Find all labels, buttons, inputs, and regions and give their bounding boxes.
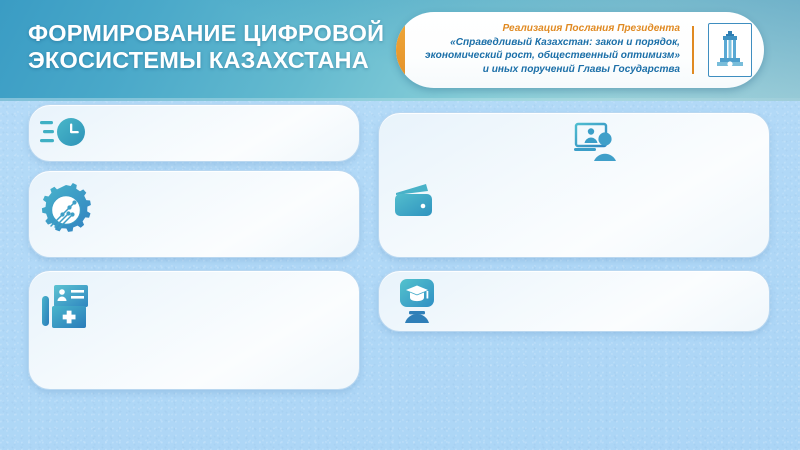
graduation-monitor-icon (396, 278, 440, 324)
page-title: Формирование цифровой экосистемы Казахст… (28, 20, 388, 75)
page-title-line1: Формирование цифровой (28, 20, 388, 47)
banner-line-1: Реализация Послания Президента (418, 22, 680, 36)
video-consultation-icon (572, 122, 620, 162)
banner-gold-accent (396, 12, 405, 88)
wallet-icon (394, 182, 442, 222)
medical-record-icon (40, 284, 90, 332)
president-message-banner: Реализация Послания Президента «Справедл… (396, 12, 764, 88)
banner-line-2: «Справедливый Казахстан: закон и порядок… (418, 36, 680, 50)
kazakhstan-monument-emblem-icon (708, 23, 752, 77)
banner-line-4: и иных поручений Главы Государства (418, 63, 680, 77)
gear-circuit-icon (38, 182, 94, 238)
banner-text: Реализация Послания Президента «Справедл… (418, 22, 680, 77)
page-title-line2: экосистемы Казахстана (28, 47, 388, 74)
banner-line-3: экономический рост, общественный оптимиз… (418, 49, 680, 63)
speed-clock-icon (40, 112, 86, 154)
banner-divider (692, 26, 694, 74)
infographic-poster: Формирование цифровой экосистемы Казахст… (0, 0, 800, 450)
